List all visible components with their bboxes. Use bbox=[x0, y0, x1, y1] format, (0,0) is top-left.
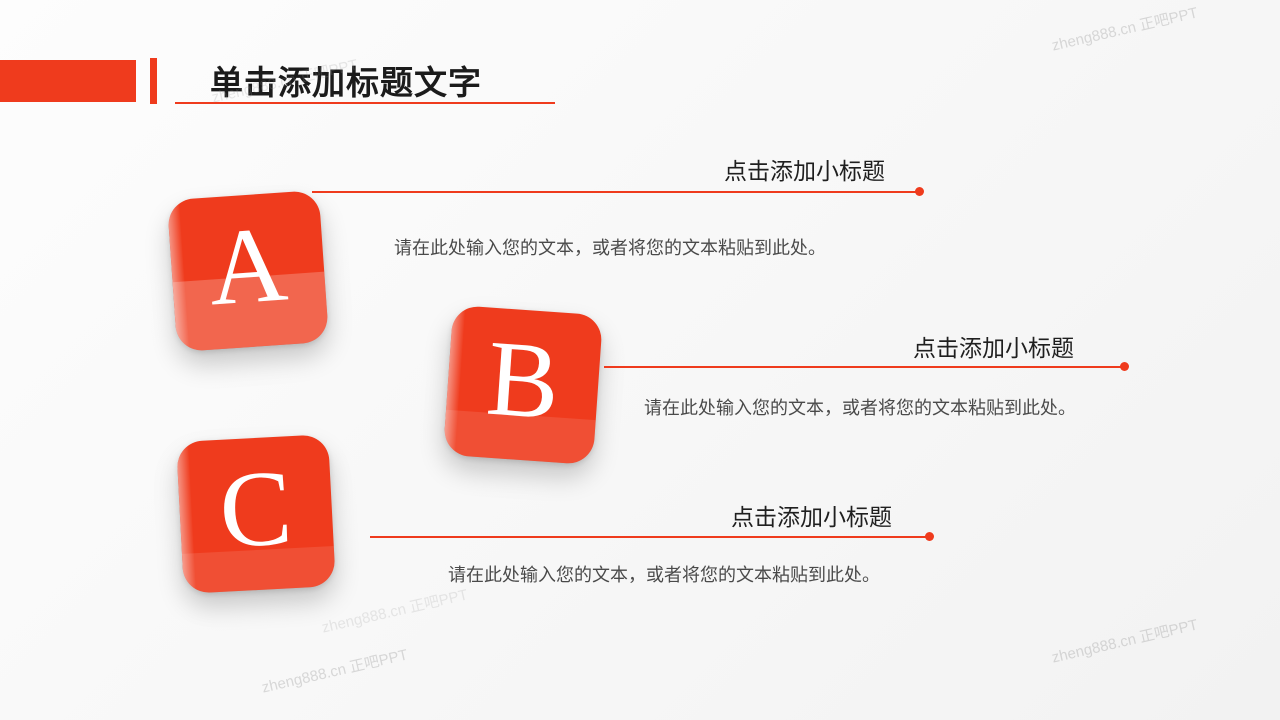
item-a-title: 点击添加小标题 bbox=[724, 152, 885, 186]
letter-card-c: C bbox=[176, 434, 336, 594]
watermark: zheng888.cn 正吧PPT bbox=[260, 643, 410, 697]
item-a-rule bbox=[312, 191, 918, 193]
watermark: zheng888.cn 正吧PPT bbox=[1050, 613, 1200, 667]
item-b-body: 请在此处输入您的文本，或者将您的文本粘贴到此处。 bbox=[644, 393, 1134, 425]
item-c-title: 点击添加小标题 bbox=[731, 498, 892, 532]
header-underline bbox=[175, 102, 555, 104]
item-b-dot bbox=[1120, 362, 1129, 371]
header-accent-bar bbox=[150, 58, 157, 104]
item-c-dot bbox=[925, 532, 934, 541]
item-b-rule bbox=[604, 366, 1122, 368]
letter-card-a: A bbox=[167, 190, 329, 352]
watermark: zheng888.cn 正吧PPT bbox=[1050, 1, 1200, 55]
item-a-dot bbox=[915, 187, 924, 196]
letter-card-c-glyph: C bbox=[217, 454, 295, 566]
slide: 单击添加标题文字 A B C 点击添加小标题 请在此处输入您的文本，或者将您的文… bbox=[0, 0, 1280, 720]
item-b-title: 点击添加小标题 bbox=[913, 329, 1074, 363]
item-c-rule bbox=[370, 536, 927, 538]
header-accent-block bbox=[0, 60, 136, 102]
letter-card-b-glyph: B bbox=[484, 325, 563, 438]
item-c-body: 请在此处输入您的文本，或者将您的文本粘贴到此处。 bbox=[448, 560, 1138, 592]
letter-card-b: B bbox=[443, 305, 603, 465]
watermark: zheng888.cn 正吧PPT bbox=[320, 583, 470, 637]
letter-card-a-glyph: A bbox=[205, 210, 290, 323]
item-a-body: 请在此处输入您的文本，或者将您的文本粘贴到此处。 bbox=[394, 233, 1014, 265]
page-title: 单击添加标题文字 bbox=[210, 56, 482, 104]
